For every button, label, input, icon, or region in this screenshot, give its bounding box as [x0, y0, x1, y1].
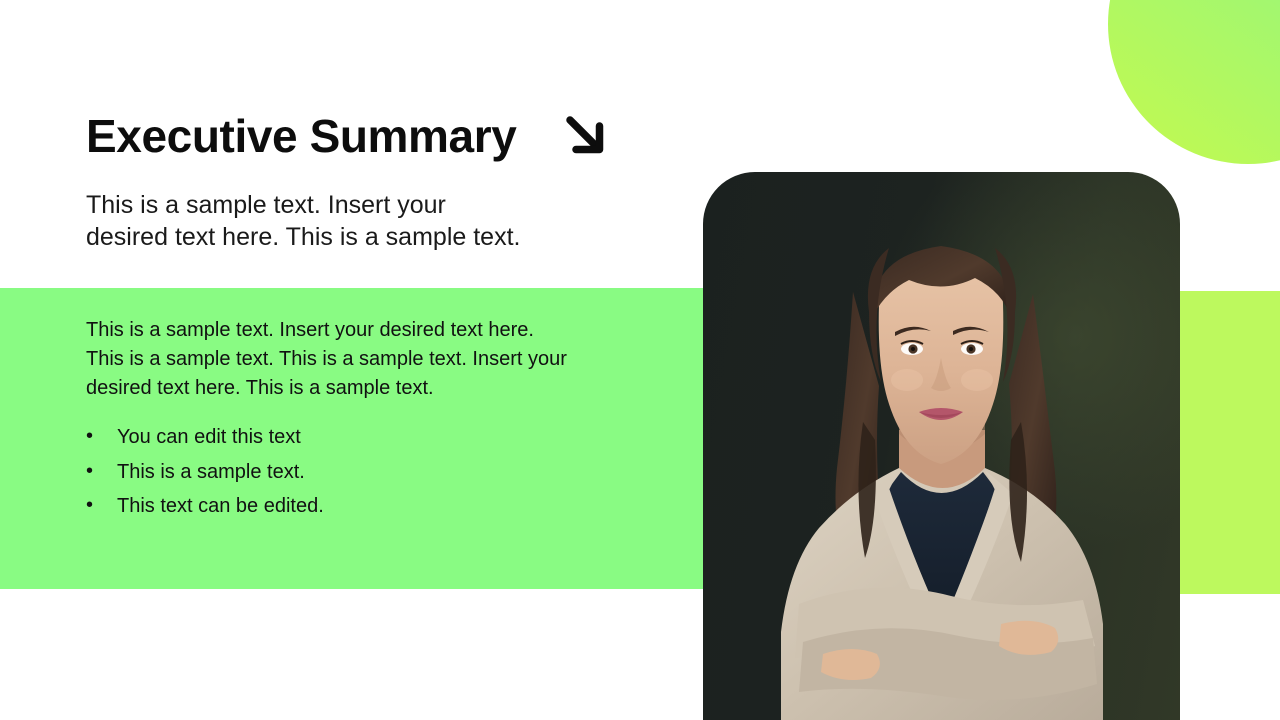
body-paragraph: This is a sample text. Insert your desir…	[86, 316, 646, 403]
portrait-photo-card	[703, 172, 1180, 720]
subtitle-text: This is a sample text. Insert your desir…	[86, 190, 646, 254]
portrait-image	[703, 172, 1180, 720]
body-line: This is a sample text. This is a sample …	[86, 345, 646, 374]
list-item: You can edit this text	[86, 423, 646, 453]
title-row: Executive Summary	[86, 110, 612, 162]
subtitle-line: This is a sample text. Insert your	[86, 190, 646, 222]
arrow-down-right-icon	[560, 110, 612, 162]
decorative-gradient-circle	[1108, 0, 1280, 164]
accent-band-right	[1180, 291, 1280, 594]
list-item: This is a sample text.	[86, 458, 646, 488]
page-title: Executive Summary	[86, 112, 516, 160]
body-line: desired text here. This is a sample text…	[86, 374, 646, 403]
list-item: This text can be edited.	[86, 492, 646, 522]
subtitle-line: desired text here. This is a sample text…	[86, 222, 646, 254]
slide-canvas: Executive Summary This is a sample text.…	[0, 0, 1280, 720]
body-line: This is a sample text. Insert your desir…	[86, 316, 646, 345]
bullet-list: You can edit this text This is a sample …	[86, 423, 646, 527]
